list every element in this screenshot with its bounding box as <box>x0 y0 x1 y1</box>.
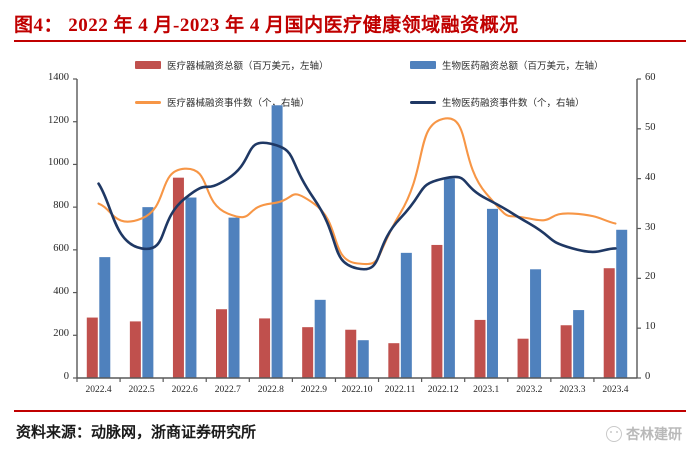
bar-2022.7-pharma <box>229 218 240 378</box>
bar-2023.4-device <box>604 268 615 378</box>
bar-2022.7-device <box>216 309 227 378</box>
bar-2022.9-pharma <box>315 300 326 378</box>
y2-tick-label: 30 <box>645 222 679 233</box>
bar-2022.11-pharma <box>401 253 412 378</box>
bar-2022.10-device <box>345 330 356 378</box>
axes-layer <box>73 79 641 382</box>
bar-2023.1-pharma <box>487 209 498 378</box>
watermark: 杏林建研 <box>606 424 682 444</box>
bar-2022.4-device <box>87 318 98 378</box>
bar-2023.3-device <box>561 325 572 378</box>
bar-2022.6-pharma <box>185 198 196 378</box>
bar-2022.9-device <box>302 327 313 378</box>
bar-2022.4-pharma <box>99 257 110 378</box>
y-tick-label: 1400 <box>29 72 69 83</box>
watermark-label: 杏林建研 <box>626 424 682 444</box>
y2-tick-label: 40 <box>645 172 679 183</box>
bars-layer <box>87 105 627 378</box>
y-tick-label: 600 <box>29 243 69 254</box>
y-tick-label: 800 <box>29 200 69 211</box>
bar-2022.8-device <box>259 318 270 378</box>
bar-2022.11-device <box>388 343 399 378</box>
bar-2023.2-device <box>518 339 529 378</box>
smiley-icon <box>606 426 622 442</box>
y-tick-label: 1200 <box>29 115 69 126</box>
bar-2023.3-pharma <box>573 310 584 378</box>
x-tick-label-2023.4: 2023.4 <box>589 385 641 395</box>
y2-tick-label: 60 <box>645 72 679 83</box>
y-tick-label: 0 <box>29 371 69 382</box>
y-tick-label: 200 <box>29 328 69 339</box>
bar-2022.12-pharma <box>444 179 455 378</box>
y2-tick-label: 0 <box>645 371 679 382</box>
bar-2023.1-device <box>474 320 485 378</box>
bar-2022.10-pharma <box>358 340 369 378</box>
bar-2022.5-pharma <box>142 207 153 378</box>
y-tick-label: 1000 <box>29 157 69 168</box>
figure-title: 图4： 2022 年 4 月-2023 年 4 月国内医疗健康领域融资概况 <box>14 10 686 37</box>
bar-2023.2-pharma <box>530 269 541 378</box>
footer-divider <box>14 410 686 412</box>
y2-tick-label: 50 <box>645 122 679 133</box>
plot-area: 1400120010008006004002000 6050403020100 … <box>0 44 700 410</box>
y2-tick-label: 10 <box>645 321 679 332</box>
title-divider-top <box>14 40 686 42</box>
bar-2022.12-device <box>431 245 442 378</box>
bar-2023.4-pharma <box>616 230 627 378</box>
chart-container: 医疗器械融资总额（百万美元，左轴） 生物医药融资总额（百万美元，左轴） 医疗器械… <box>0 44 700 410</box>
source-note: 资料来源：动脉网，浙商证券研究所 <box>16 421 256 442</box>
y-tick-label: 400 <box>29 286 69 297</box>
bar-2022.5-device <box>130 321 141 378</box>
chart-svg <box>0 44 700 410</box>
y2-tick-label: 20 <box>645 271 679 282</box>
